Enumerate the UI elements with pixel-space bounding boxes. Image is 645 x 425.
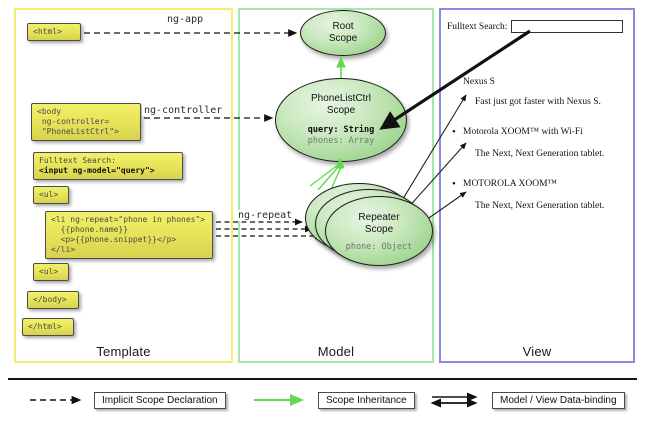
connector-label-ng-repeat: ng-repeat bbox=[236, 210, 294, 221]
code-box-search-input: Fulltext Search: <input ng-model="query"… bbox=[33, 152, 183, 180]
scope-repeater-title-line1: Repeater bbox=[358, 210, 399, 224]
view-item-snippet-3: The Next, Next Generation tablet. bbox=[475, 200, 643, 212]
column-label-view: View bbox=[441, 344, 633, 359]
code-box-body-close: </body> bbox=[27, 291, 79, 309]
scope-phonelistctrl: PhoneListCtrl Scope query: String phones… bbox=[275, 78, 407, 162]
code-box-li-repeat: <li ng-repeat="phone in phones"> {{phone… bbox=[45, 211, 213, 259]
column-label-model: Model bbox=[240, 344, 432, 359]
connector-label-ng-app: ng-app bbox=[165, 14, 205, 25]
legend-item-model-view-data-binding: Model / View Data-binding bbox=[426, 388, 625, 412]
scope-root-title-line1: Root bbox=[332, 21, 353, 33]
code-box-search-code: <input ng-model="query"> bbox=[39, 166, 155, 175]
scope-phonelistctrl-title-line2: Scope bbox=[327, 105, 355, 117]
code-box-html-close: </html> bbox=[22, 318, 74, 336]
view-rendered-output: Fulltext Search: • Nexus S Fast just got… bbox=[445, 14, 631, 334]
view-item-name-2: Motorola XOOM™ with Wi-Fi bbox=[463, 127, 583, 137]
view-list-item-3: • MOTOROLA XOOM™ bbox=[463, 178, 633, 190]
legend-label-scope-inheritance: Scope Inheritance bbox=[318, 392, 415, 409]
view-list-item-1: • Nexus S bbox=[463, 76, 633, 88]
green-arrow-icon bbox=[252, 390, 310, 410]
legend-label-implicit-scope-declaration: Implicit Scope Declaration bbox=[94, 392, 226, 409]
scope-root-title-line2: Scope bbox=[329, 33, 357, 45]
scope-root: Root Scope bbox=[300, 10, 386, 56]
view-item-name-3: MOTOROLA XOOM™ bbox=[463, 179, 557, 189]
view-item-name-1: Nexus S bbox=[463, 77, 495, 87]
legend-divider bbox=[8, 378, 637, 380]
code-box-ul-close: <ul> bbox=[33, 263, 69, 281]
legend: Implicit Scope Declaration Scope Inherit… bbox=[8, 388, 637, 418]
scope-prop-phones: phones: Array bbox=[308, 136, 375, 147]
bidirectional-arrow-icon bbox=[426, 390, 484, 410]
bullet-icon: • bbox=[452, 76, 456, 88]
scope-repeater: Repeater Scope phone: Object bbox=[325, 196, 433, 266]
scope-prop-query: query: String bbox=[308, 125, 375, 136]
code-box-search-label: Fulltext Search: bbox=[39, 156, 116, 165]
legend-item-scope-inheritance: Scope Inheritance bbox=[252, 388, 415, 412]
view-item-snippet-1: Fast just got faster with Nexus S. bbox=[475, 96, 643, 108]
scope-phonelistctrl-title-line1: PhoneListCtrl bbox=[311, 93, 371, 105]
view-search-row: Fulltext Search: bbox=[447, 20, 629, 33]
column-label-template: Template bbox=[16, 344, 231, 359]
view-item-snippet-2: The Next, Next Generation tablet. bbox=[475, 148, 643, 160]
bullet-icon: • bbox=[452, 178, 456, 190]
scope-repeater-title-line2: Scope bbox=[365, 224, 393, 236]
view-search-label: Fulltext Search: bbox=[447, 22, 507, 32]
view-list-item-2: • Motorola XOOM™ with Wi-Fi bbox=[463, 126, 633, 138]
legend-item-implicit-scope-declaration: Implicit Scope Declaration bbox=[28, 388, 226, 412]
connector-label-ng-controller: ng-controller bbox=[142, 105, 224, 116]
scope-prop-phone: phone: Object bbox=[346, 242, 413, 253]
code-box-body-open: <body ng-controller= "PhoneListCtrl"> bbox=[31, 103, 141, 141]
code-box-html-open: <html> bbox=[27, 23, 81, 41]
view-search-input[interactable] bbox=[511, 20, 623, 33]
diagram-canvas: Template Model View <html> <body ng-cont… bbox=[0, 0, 645, 425]
dashed-arrow-icon bbox=[28, 390, 86, 410]
bullet-icon: • bbox=[452, 126, 456, 138]
legend-label-model-view-data-binding: Model / View Data-binding bbox=[492, 392, 625, 409]
code-box-ul-open: <ul> bbox=[33, 186, 69, 204]
